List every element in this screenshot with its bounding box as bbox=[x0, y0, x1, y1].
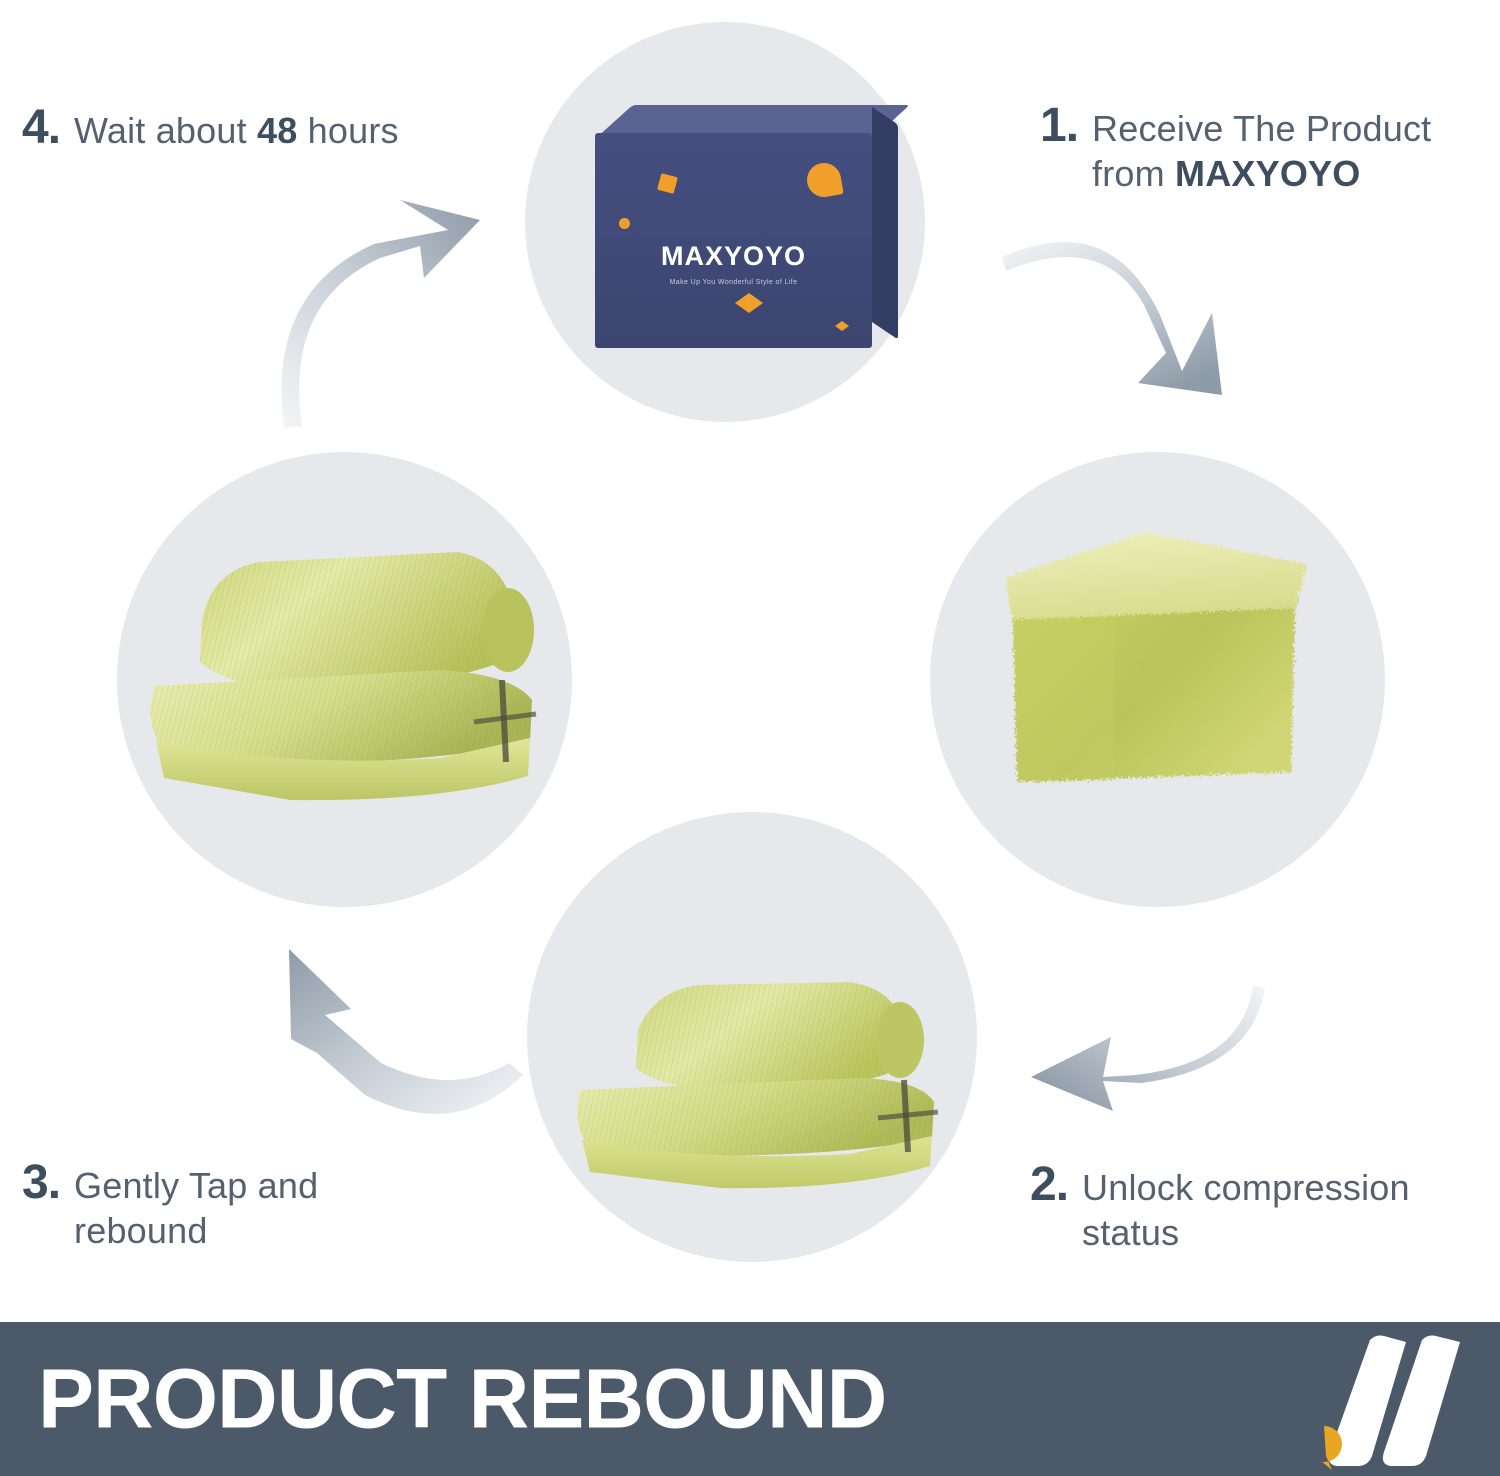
arrow-step3-to-step4 bbox=[255, 925, 545, 1135]
step-2-number: 2. bbox=[1030, 1161, 1068, 1209]
infographic-stage: MAXYOYO Make Up You Wonderful Style of L… bbox=[0, 0, 1500, 1476]
step-2-text-line2: status bbox=[1082, 1212, 1179, 1253]
partially-expanded-floor-sofa-image bbox=[560, 940, 960, 1190]
step-1-text-line2-prefix: from bbox=[1092, 153, 1175, 194]
box-decor-star-icon bbox=[735, 293, 763, 303]
arrow-step1-to-step2 bbox=[960, 195, 1260, 425]
step-2-text-line1: Unlock compression bbox=[1082, 1167, 1410, 1208]
step-4-text-prefix: Wait about bbox=[74, 110, 257, 151]
box-brand-logo: MAXYOYO bbox=[595, 241, 872, 272]
box-decor-dot-icon bbox=[619, 218, 630, 229]
step-1-text-line1: Receive The Product bbox=[1092, 108, 1431, 149]
fully-rebounded-floor-sofa-image bbox=[140, 510, 560, 840]
box-side-face bbox=[872, 107, 898, 340]
step-4-number: 4. bbox=[22, 104, 60, 152]
box-front-face: MAXYOYO Make Up You Wonderful Style of L… bbox=[595, 133, 872, 348]
step-1-label: 1. Receive The Productfrom MAXYOYO bbox=[1040, 106, 1480, 196]
step-1-text-brand: MAXYOYO bbox=[1175, 153, 1360, 194]
box-decor-square-icon bbox=[657, 173, 678, 194]
footer-bar: PRODUCT REBOUND bbox=[0, 1322, 1500, 1476]
step-4-text-bold: 48 bbox=[257, 110, 297, 151]
step-3-text: Gently Tap andrebound bbox=[74, 1163, 318, 1253]
step-2-label: 2. Unlock compressionstatus bbox=[1030, 1165, 1480, 1255]
step-4-text: Wait about 48 hours bbox=[74, 108, 399, 153]
maxyoyo-m-logo-icon bbox=[1310, 1330, 1500, 1476]
box-decor-small-star-icon bbox=[835, 321, 849, 326]
step-4-label: 4. Wait about 48 hours bbox=[22, 108, 492, 153]
box-tagline: Make Up You Wonderful Style of Life bbox=[595, 279, 872, 286]
step-4-text-suffix: hours bbox=[297, 110, 398, 151]
step-2-text: Unlock compressionstatus bbox=[1082, 1165, 1410, 1255]
arrow-step4-to-step1 bbox=[262, 192, 562, 442]
step-3-text-line1: Gently Tap and bbox=[74, 1165, 318, 1206]
step-1-text: Receive The Productfrom MAXYOYO bbox=[1092, 106, 1431, 196]
step-1-number: 1. bbox=[1040, 102, 1078, 150]
step-3-text-line2: rebound bbox=[74, 1210, 208, 1251]
step-3-label: 3. Gently Tap andrebound bbox=[22, 1163, 422, 1253]
compressed-foam-block-image bbox=[995, 520, 1325, 820]
step-3-number: 3. bbox=[22, 1159, 60, 1207]
box-decor-circle-icon bbox=[804, 160, 843, 199]
shipping-box-image: MAXYOYO Make Up You Wonderful Style of L… bbox=[595, 105, 895, 350]
footer-title: PRODUCT REBOUND bbox=[38, 1351, 886, 1448]
arrow-step2-to-step3 bbox=[985, 985, 1285, 1165]
